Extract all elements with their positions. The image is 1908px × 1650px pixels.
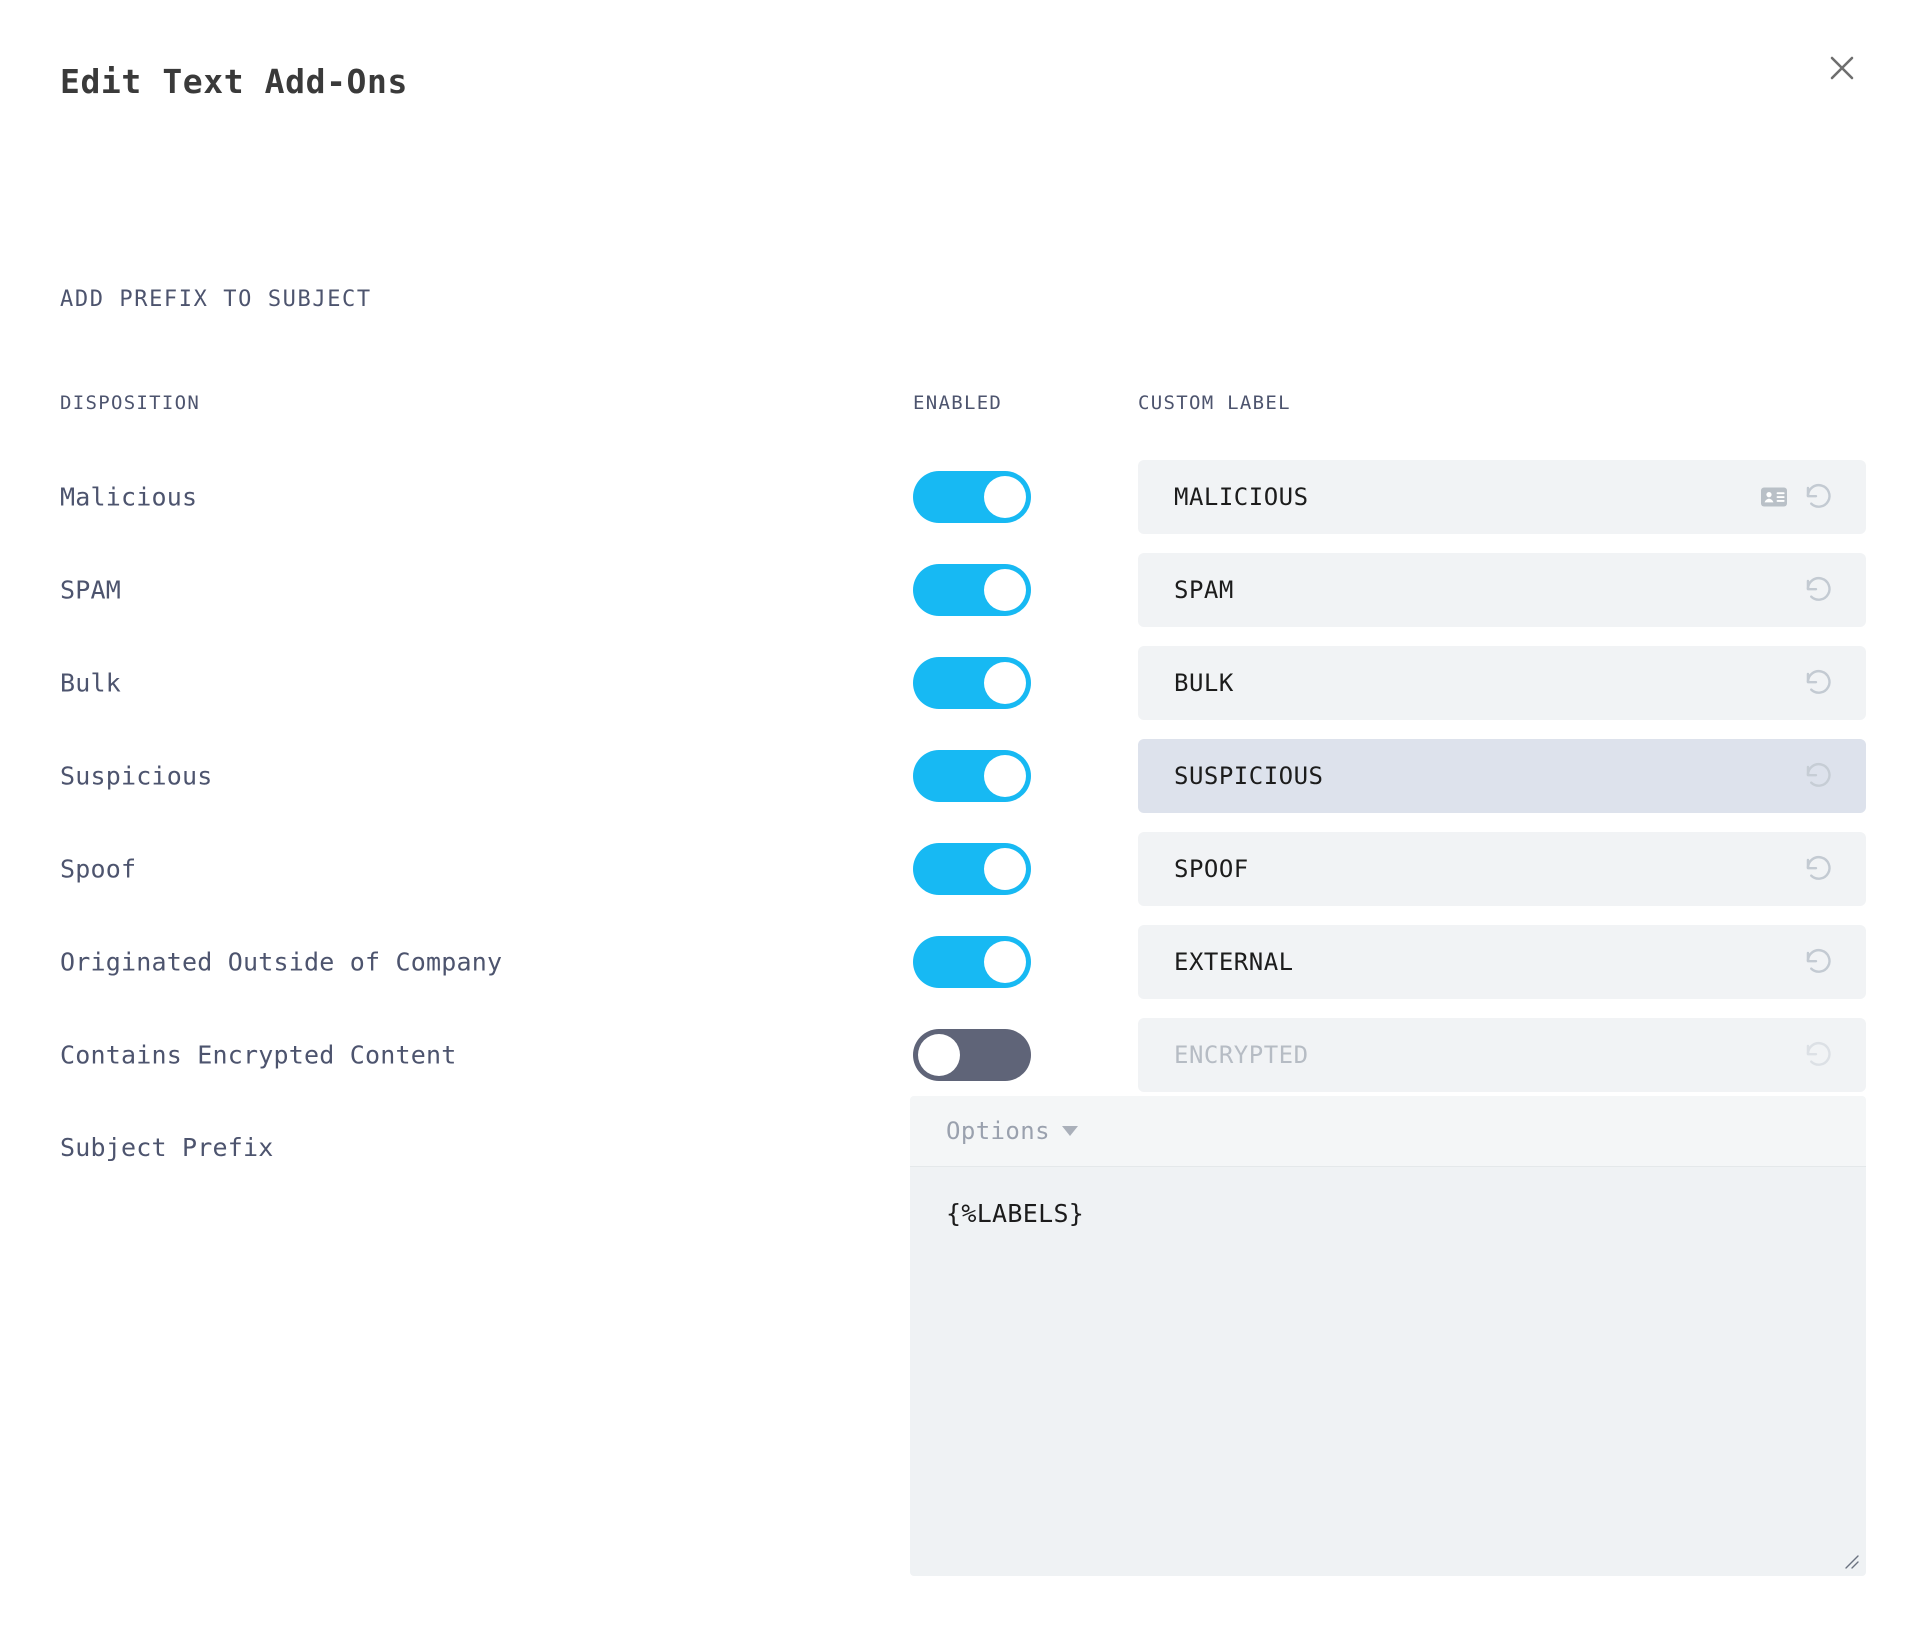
table-row: Originated Outside of CompanyEXTERNAL <box>0 915 1908 1008</box>
field-action-icons <box>1760 480 1866 514</box>
disposition-label: Originated Outside of Company <box>60 947 502 976</box>
table-row: SuspiciousSUSPICIOUS <box>0 729 1908 822</box>
custom-label-input[interactable]: SPOOF <box>1138 855 1802 883</box>
subject-prefix-value: {%LABELS} <box>946 1199 1084 1228</box>
custom-label-input[interactable]: EXTERNAL <box>1138 948 1802 976</box>
disposition-label: Spoof <box>60 854 136 883</box>
toggle-knob <box>918 1034 960 1076</box>
field-action-icons <box>1802 945 1866 979</box>
field-action-icons <box>1802 759 1866 793</box>
custom-label-field[interactable]: EXTERNAL <box>1138 925 1866 999</box>
disposition-label: Malicious <box>60 482 197 511</box>
custom-label-input[interactable]: BULK <box>1138 669 1802 697</box>
reset-icon[interactable] <box>1802 480 1836 514</box>
custom-label-field[interactable]: SUSPICIOUS <box>1138 739 1866 813</box>
contact-card-icon[interactable] <box>1760 485 1788 509</box>
subject-prefix-editor: Options {%LABELS} <box>910 1096 1866 1576</box>
field-action-icons <box>1802 666 1866 700</box>
options-dropdown[interactable]: Options <box>946 1117 1078 1145</box>
enabled-toggle[interactable] <box>913 843 1031 895</box>
section-title: ADD PREFIX TO SUBJECT <box>60 287 372 312</box>
reset-icon <box>1802 1038 1836 1072</box>
reset-icon[interactable] <box>1802 666 1836 700</box>
toggle-knob <box>984 476 1026 518</box>
table-row: MaliciousMALICIOUS <box>0 450 1908 543</box>
field-action-icons <box>1802 1038 1866 1072</box>
table-row: Contains Encrypted ContentENCRYPTED <box>0 1008 1908 1101</box>
table-row: BulkBULK <box>0 636 1908 729</box>
disposition-label: Suspicious <box>60 761 213 790</box>
toggle-knob <box>984 848 1026 890</box>
custom-label-field[interactable]: BULK <box>1138 646 1866 720</box>
subject-prefix-textarea[interactable]: {%LABELS} <box>910 1166 1866 1576</box>
disposition-label: SPAM <box>60 575 121 604</box>
editor-toolbar: Options <box>910 1096 1866 1166</box>
disposition-label: Bulk <box>60 668 121 697</box>
enabled-toggle[interactable] <box>913 1029 1031 1081</box>
custom-label-field[interactable]: SPAM <box>1138 553 1866 627</box>
reset-icon[interactable] <box>1802 759 1836 793</box>
close-button[interactable] <box>1818 44 1866 92</box>
column-header-disposition: DISPOSITION <box>60 392 200 414</box>
toggle-knob <box>984 941 1026 983</box>
options-dropdown-label: Options <box>946 1117 1050 1145</box>
page-title: Edit Text Add-Ons <box>60 62 408 101</box>
custom-label-input[interactable]: SUSPICIOUS <box>1138 762 1802 790</box>
custom-label-field[interactable]: SPOOF <box>1138 832 1866 906</box>
resize-handle-icon[interactable] <box>1840 1550 1860 1570</box>
column-header-enabled: ENABLED <box>913 392 1002 414</box>
custom-label-field[interactable]: MALICIOUS <box>1138 460 1866 534</box>
reset-icon[interactable] <box>1802 945 1836 979</box>
close-icon <box>1827 53 1857 83</box>
reset-icon[interactable] <box>1802 852 1836 886</box>
enabled-toggle[interactable] <box>913 936 1031 988</box>
table-row: SPAMSPAM <box>0 543 1908 636</box>
custom-label-input: ENCRYPTED <box>1138 1041 1802 1069</box>
enabled-toggle[interactable] <box>913 564 1031 616</box>
enabled-toggle[interactable] <box>913 657 1031 709</box>
table-row: SpoofSPOOF <box>0 822 1908 915</box>
disposition-rows: MaliciousMALICIOUSSPAMSPAMBulkBULKSuspic… <box>0 450 1908 1101</box>
toggle-knob <box>984 569 1026 611</box>
subject-prefix-label: Subject Prefix <box>60 1133 274 1162</box>
reset-icon[interactable] <box>1802 573 1836 607</box>
dialog-header: Edit Text Add-Ons <box>0 0 1908 150</box>
edit-text-add-ons-dialog: Edit Text Add-Ons ADD PREFIX TO SUBJECT … <box>0 0 1908 1650</box>
toggle-knob <box>984 755 1026 797</box>
enabled-toggle[interactable] <box>913 750 1031 802</box>
chevron-down-icon <box>1062 1126 1078 1136</box>
column-header-custom-label: CUSTOM LABEL <box>1138 392 1291 414</box>
field-action-icons <box>1802 573 1866 607</box>
custom-label-input[interactable]: MALICIOUS <box>1138 483 1760 511</box>
enabled-toggle[interactable] <box>913 471 1031 523</box>
custom-label-field: ENCRYPTED <box>1138 1018 1866 1092</box>
disposition-label: Contains Encrypted Content <box>60 1040 457 1069</box>
field-action-icons <box>1802 852 1866 886</box>
custom-label-input[interactable]: SPAM <box>1138 576 1802 604</box>
toggle-knob <box>984 662 1026 704</box>
